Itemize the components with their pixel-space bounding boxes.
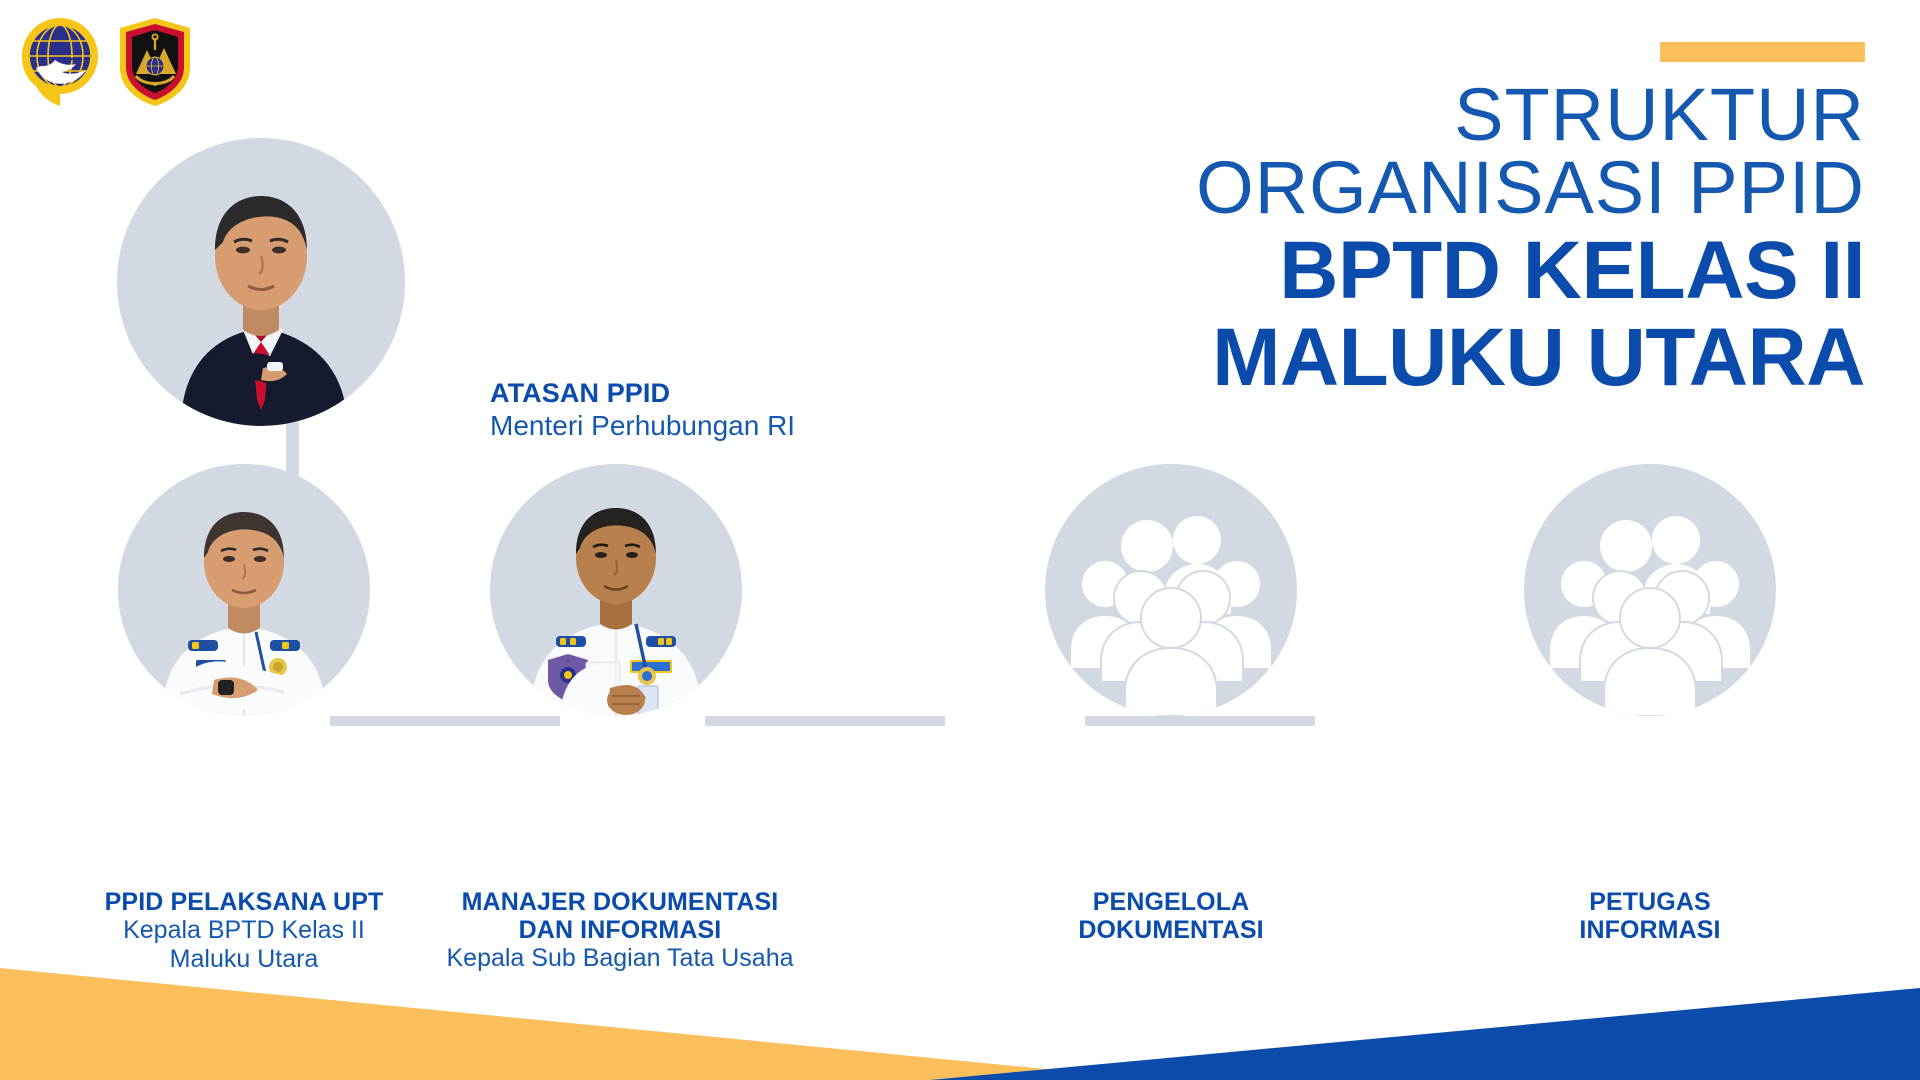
group-people-icon xyxy=(1524,464,1776,716)
node-pengelola-dokumentasi-icon-wrap xyxy=(1045,464,1297,716)
heading-line-2: ORGANISASI PPID xyxy=(1025,151,1865,224)
group-people-icon xyxy=(1045,464,1297,716)
caption-ppid-pelaksana-upt-title: PPID PELAKSANA UPT xyxy=(48,888,440,916)
caption-atasan-ppid-subtitle: Menteri Perhubungan RI xyxy=(490,410,1010,442)
heading-block: STRUKTUR ORGANISASI PPID BPTD KELAS II M… xyxy=(1025,42,1865,400)
infographic-canvas: STRUKTUR ORGANISASI PPID BPTD KELAS II M… xyxy=(0,0,1920,1080)
blue-wedge xyxy=(930,988,1920,1080)
node-ppid-pelaksana-upt-portrait xyxy=(118,464,370,716)
portrait-officer-white-uniform-crossed-arms xyxy=(118,464,370,716)
caption-pengelola-title-line-1: PENGELOLA xyxy=(1001,888,1341,916)
heading-line-1: STRUKTUR xyxy=(1025,78,1865,151)
node-atasan-ppid-portrait xyxy=(117,138,405,426)
node-pengelola-dokumentasi[interactable] xyxy=(1045,464,1297,716)
connector-ppid-to-manajer xyxy=(330,716,560,726)
node-petugas-informasi-icon-wrap xyxy=(1524,464,1776,716)
caption-pengelola-dokumentasi: PENGELOLA DOKUMENTASI xyxy=(1001,888,1341,944)
connector-manajer-to-pengelola xyxy=(705,716,945,726)
connector-pengelola-to-petugas xyxy=(1085,716,1315,726)
node-atasan-ppid[interactable] xyxy=(117,138,405,426)
bottom-decoration xyxy=(0,940,1920,1080)
portrait-man-suit-red-tie xyxy=(117,138,405,426)
accent-bar xyxy=(1660,42,1865,62)
caption-petugas-title-line-1: PETUGAS xyxy=(1480,888,1820,916)
orange-wedge xyxy=(0,968,1160,1080)
portrait-officer-white-uniform-badge xyxy=(490,464,742,716)
caption-manajer-title-line-1: MANAJER DOKUMENTASI xyxy=(420,888,820,916)
kemenhub-logo xyxy=(18,16,102,108)
node-manajer-dokumentasi-dan-informasi[interactable] xyxy=(490,464,742,716)
heading-line-3: BPTD KELAS II xyxy=(1025,229,1865,313)
caption-atasan-ppid-title: ATASAN PPID xyxy=(490,378,1010,408)
caption-atasan-ppid: ATASAN PPID Menteri Perhubungan RI xyxy=(490,378,1010,442)
node-manajer-dokumentasi-dan-informasi-portrait xyxy=(490,464,742,716)
hubdat-logo xyxy=(116,16,194,108)
logo-group xyxy=(18,16,194,108)
node-ppid-pelaksana-upt[interactable] xyxy=(118,464,370,716)
node-petugas-informasi[interactable] xyxy=(1524,464,1776,716)
heading-line-4: MALUKU UTARA xyxy=(1025,316,1865,400)
caption-petugas-informasi: PETUGAS INFORMASI xyxy=(1480,888,1820,944)
